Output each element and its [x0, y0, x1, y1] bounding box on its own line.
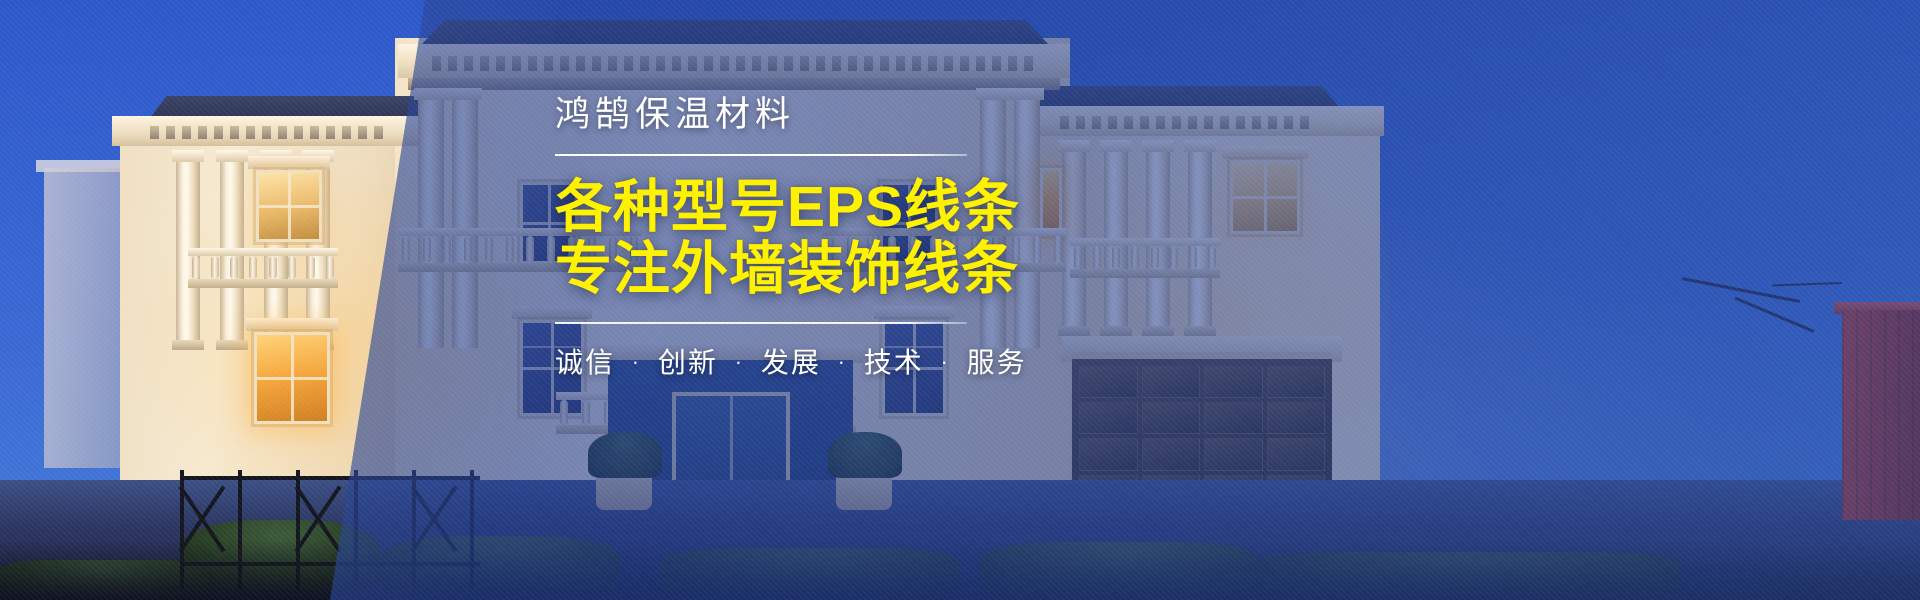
window-pediment [248, 156, 330, 169]
tree-branch-icon [1734, 297, 1814, 333]
ground-vignette [0, 540, 1920, 600]
tagline-item: 技术 [864, 347, 924, 378]
divider-rule-top [555, 154, 967, 156]
company-name-eyebrow: 鸿鹄保温材料 [555, 96, 1025, 135]
tagline: 诚信 · 创新 · 发展 · 技术 · 服务 [555, 341, 1025, 381]
tagline-item: 发展 [761, 347, 821, 378]
shrub-left [588, 432, 662, 478]
headline-line-1: 各种型号EPS线条 [555, 176, 1025, 238]
headline-line-2: 专注外墙装饰线条 [555, 238, 1025, 300]
tagline-separator-icon: · [831, 349, 854, 374]
window-left-lower [254, 332, 330, 424]
divider-rule-bottom [555, 322, 967, 324]
tagline-separator-icon: · [625, 349, 648, 374]
promotional-banner: 鸿鹄保温材料 各种型号EPS线条 专注外墙装饰线条 诚信 · 创新 · 发展 ·… [0, 0, 1920, 600]
shrub-right [828, 432, 902, 478]
tagline-item: 服务 [967, 347, 1027, 378]
tagline-item: 创新 [658, 347, 718, 378]
window-pediment [1222, 146, 1308, 159]
tagline-item: 诚信 [555, 347, 615, 378]
banner-copy-block: 鸿鹄保温材料 各种型号EPS线条 专注外墙装饰线条 诚信 · 创新 · 发展 ·… [555, 96, 1025, 381]
central-pilaster-left [418, 98, 478, 348]
headline-group: 各种型号EPS线条 专注外墙装饰线条 [555, 176, 1025, 300]
balustrade-left-upper [188, 248, 338, 288]
tagline-separator-icon: · [728, 349, 751, 374]
window-right-sliver [1040, 168, 1062, 236]
tree-branch-icon [1772, 282, 1842, 286]
window-right-upper [1230, 160, 1300, 234]
balustrade-right-upper [1070, 238, 1220, 278]
window-pediment [246, 318, 338, 331]
window-left-upper [256, 170, 322, 242]
tagline-separator-icon: · [934, 349, 957, 374]
shipping-container [1842, 310, 1920, 520]
